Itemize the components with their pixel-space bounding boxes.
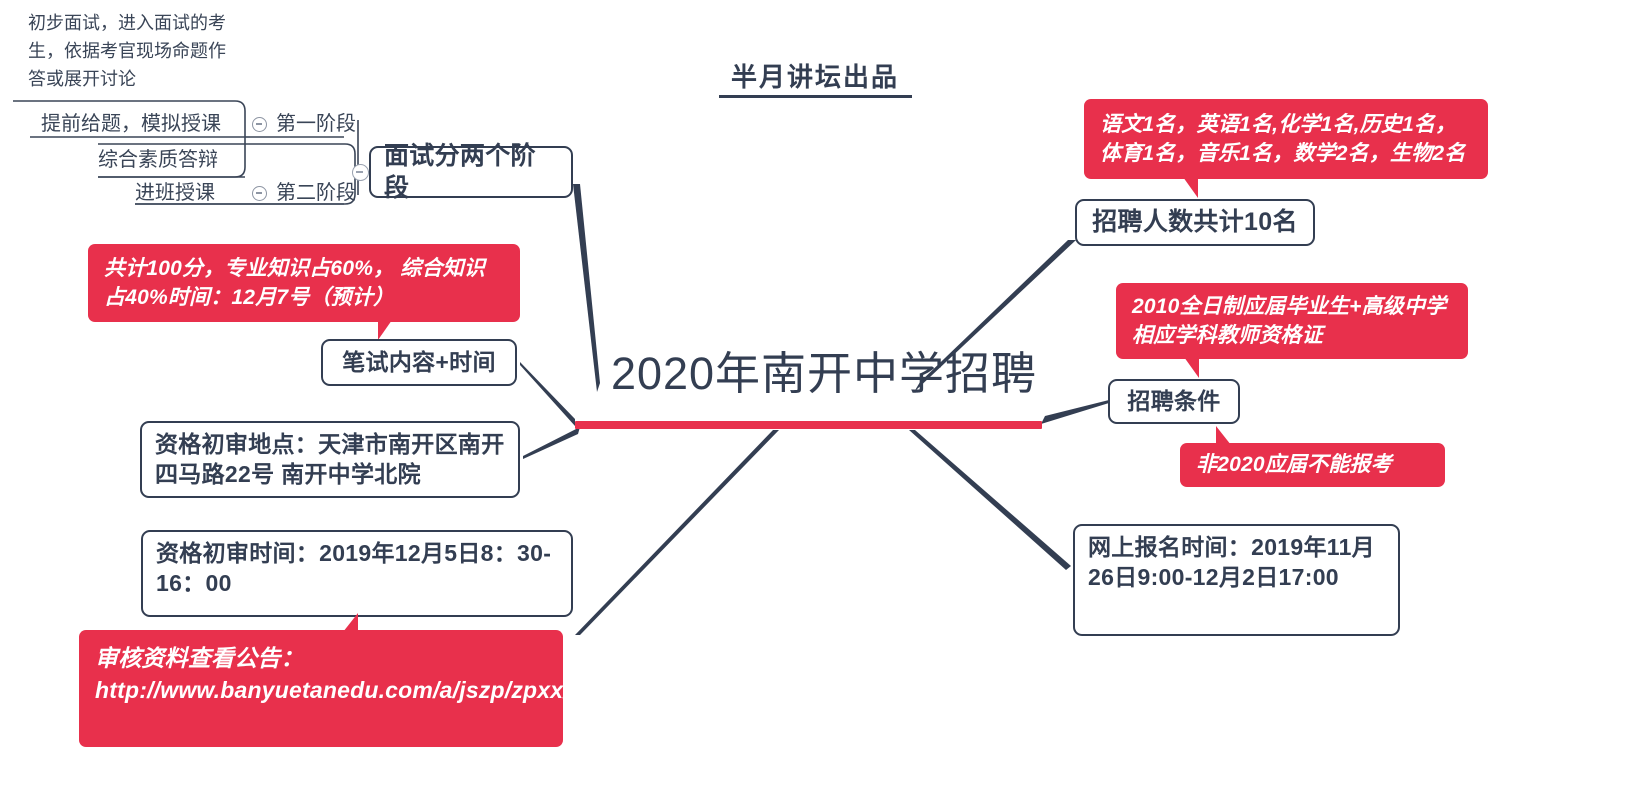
page-title: 半月讲坛出品 <box>690 57 940 94</box>
node-online-signup[interactable]: 网上报名时间：2019年11月26日9:00-12月2日17:00 <box>1073 524 1400 636</box>
stage-one-item-2-label: 综合素质答辩 <box>98 149 218 171</box>
stage-one[interactable]: 第一阶段 <box>243 107 356 136</box>
callout-headcount[interactable]: 语文1名，英语1名,化学1名,历史1名， 体育1名，音乐1名，数学2名，生物2名 <box>1084 99 1488 179</box>
stage-two[interactable]: 第二阶段 <box>243 176 356 205</box>
node-online-signup-label: 网上报名时间：2019年11月26日9:00-12月2日17:00 <box>1088 533 1385 593</box>
callout-requirements-bottom[interactable]: 非2020应届不能报考 <box>1180 443 1445 487</box>
branch-bullet-icon[interactable] <box>252 117 267 132</box>
stage-two-label: 第二阶段 <box>276 182 356 204</box>
stage-two-item-1[interactable]: 进班授课 <box>135 176 215 205</box>
node-requirements-label: 招聘条件 <box>1127 387 1220 417</box>
node-requirements[interactable]: 招聘条件 <box>1108 379 1240 424</box>
callout-requirements-top[interactable]: 2010全日制应届毕业生+高级中学相应学科教师资格证 <box>1116 283 1468 359</box>
node-review-place-label: 资格初审地点：天津市南开区南开四马路22号 南开中学北院 <box>155 430 505 490</box>
stage-one-note: 初步面试，进入面试的考生，依据考官现场命题作答或展开讨论 <box>28 10 243 94</box>
callout-review-docs[interactable]: 审核资料查看公告：http://www.banyuetanedu.com/a/j… <box>79 630 563 747</box>
stage-one-note-text: 初步面试，进入面试的考生，依据考官现场命题作答或展开讨论 <box>28 13 226 89</box>
stage-one-item-1[interactable]: 提前给题，模拟授课 <box>41 107 221 136</box>
callout-tail-icon <box>343 613 358 632</box>
callout-tail-icon <box>1216 426 1231 445</box>
central-topic-underline <box>575 421 1042 429</box>
mindmap-canvas: 半月讲坛出品 2020年南开中学招聘 初步面试，进入面试的考生，依据考官现场命题… <box>0 0 1627 795</box>
node-review-time[interactable]: 资格初审时间：2019年12月5日8：30-16：00 <box>141 530 573 617</box>
callout-headcount-text: 语文1名，英语1名,化学1名,历史1名， 体育1名，音乐1名，数学2名，生物2名 <box>1100 110 1472 169</box>
node-headcount-label: 招聘人数共计10名 <box>1092 206 1298 239</box>
node-interview-stages-label: 面试分两个阶段 <box>384 140 558 205</box>
callout-tail-icon <box>1184 357 1199 378</box>
stage-one-label: 第一阶段 <box>276 113 356 135</box>
central-topic[interactable]: 2020年南开中学招聘 <box>598 341 1050 397</box>
callout-review-docs-text: 审核资料查看公告：http://www.banyuetanedu.com/a/j… <box>95 642 725 706</box>
node-review-place[interactable]: 资格初审地点：天津市南开区南开四马路22号 南开中学北院 <box>140 421 520 498</box>
callout-written-exam-text: 共计100分，专业知识占60%， 综合知识占40%时间：12月7号（预计） <box>104 254 504 313</box>
stage-one-item-2[interactable]: 综合素质答辩 <box>98 143 218 172</box>
callout-tail-icon <box>378 320 392 340</box>
branch-bullet-icon[interactable] <box>252 186 267 201</box>
collapse-toggle-icon[interactable] <box>352 164 369 181</box>
callout-requirements-bottom-text: 非2020应届不能报考 <box>1196 450 1392 479</box>
page-title-underline <box>719 95 912 98</box>
stage-two-item-1-label: 进班授课 <box>135 182 215 204</box>
node-interview-stages[interactable]: 面试分两个阶段 <box>369 146 573 198</box>
node-headcount[interactable]: 招聘人数共计10名 <box>1075 199 1315 246</box>
node-written-exam-label: 笔试内容+时间 <box>342 348 496 378</box>
node-review-time-label: 资格初审时间：2019年12月5日8：30-16：00 <box>156 539 558 599</box>
callout-tail-icon <box>1183 177 1198 198</box>
callout-requirements-top-text: 2010全日制应届毕业生+高级中学相应学科教师资格证 <box>1132 292 1452 351</box>
node-written-exam[interactable]: 笔试内容+时间 <box>321 339 517 386</box>
stage-one-item-1-label: 提前给题，模拟授课 <box>41 113 221 135</box>
callout-written-exam[interactable]: 共计100分，专业知识占60%， 综合知识占40%时间：12月7号（预计） <box>88 244 520 322</box>
